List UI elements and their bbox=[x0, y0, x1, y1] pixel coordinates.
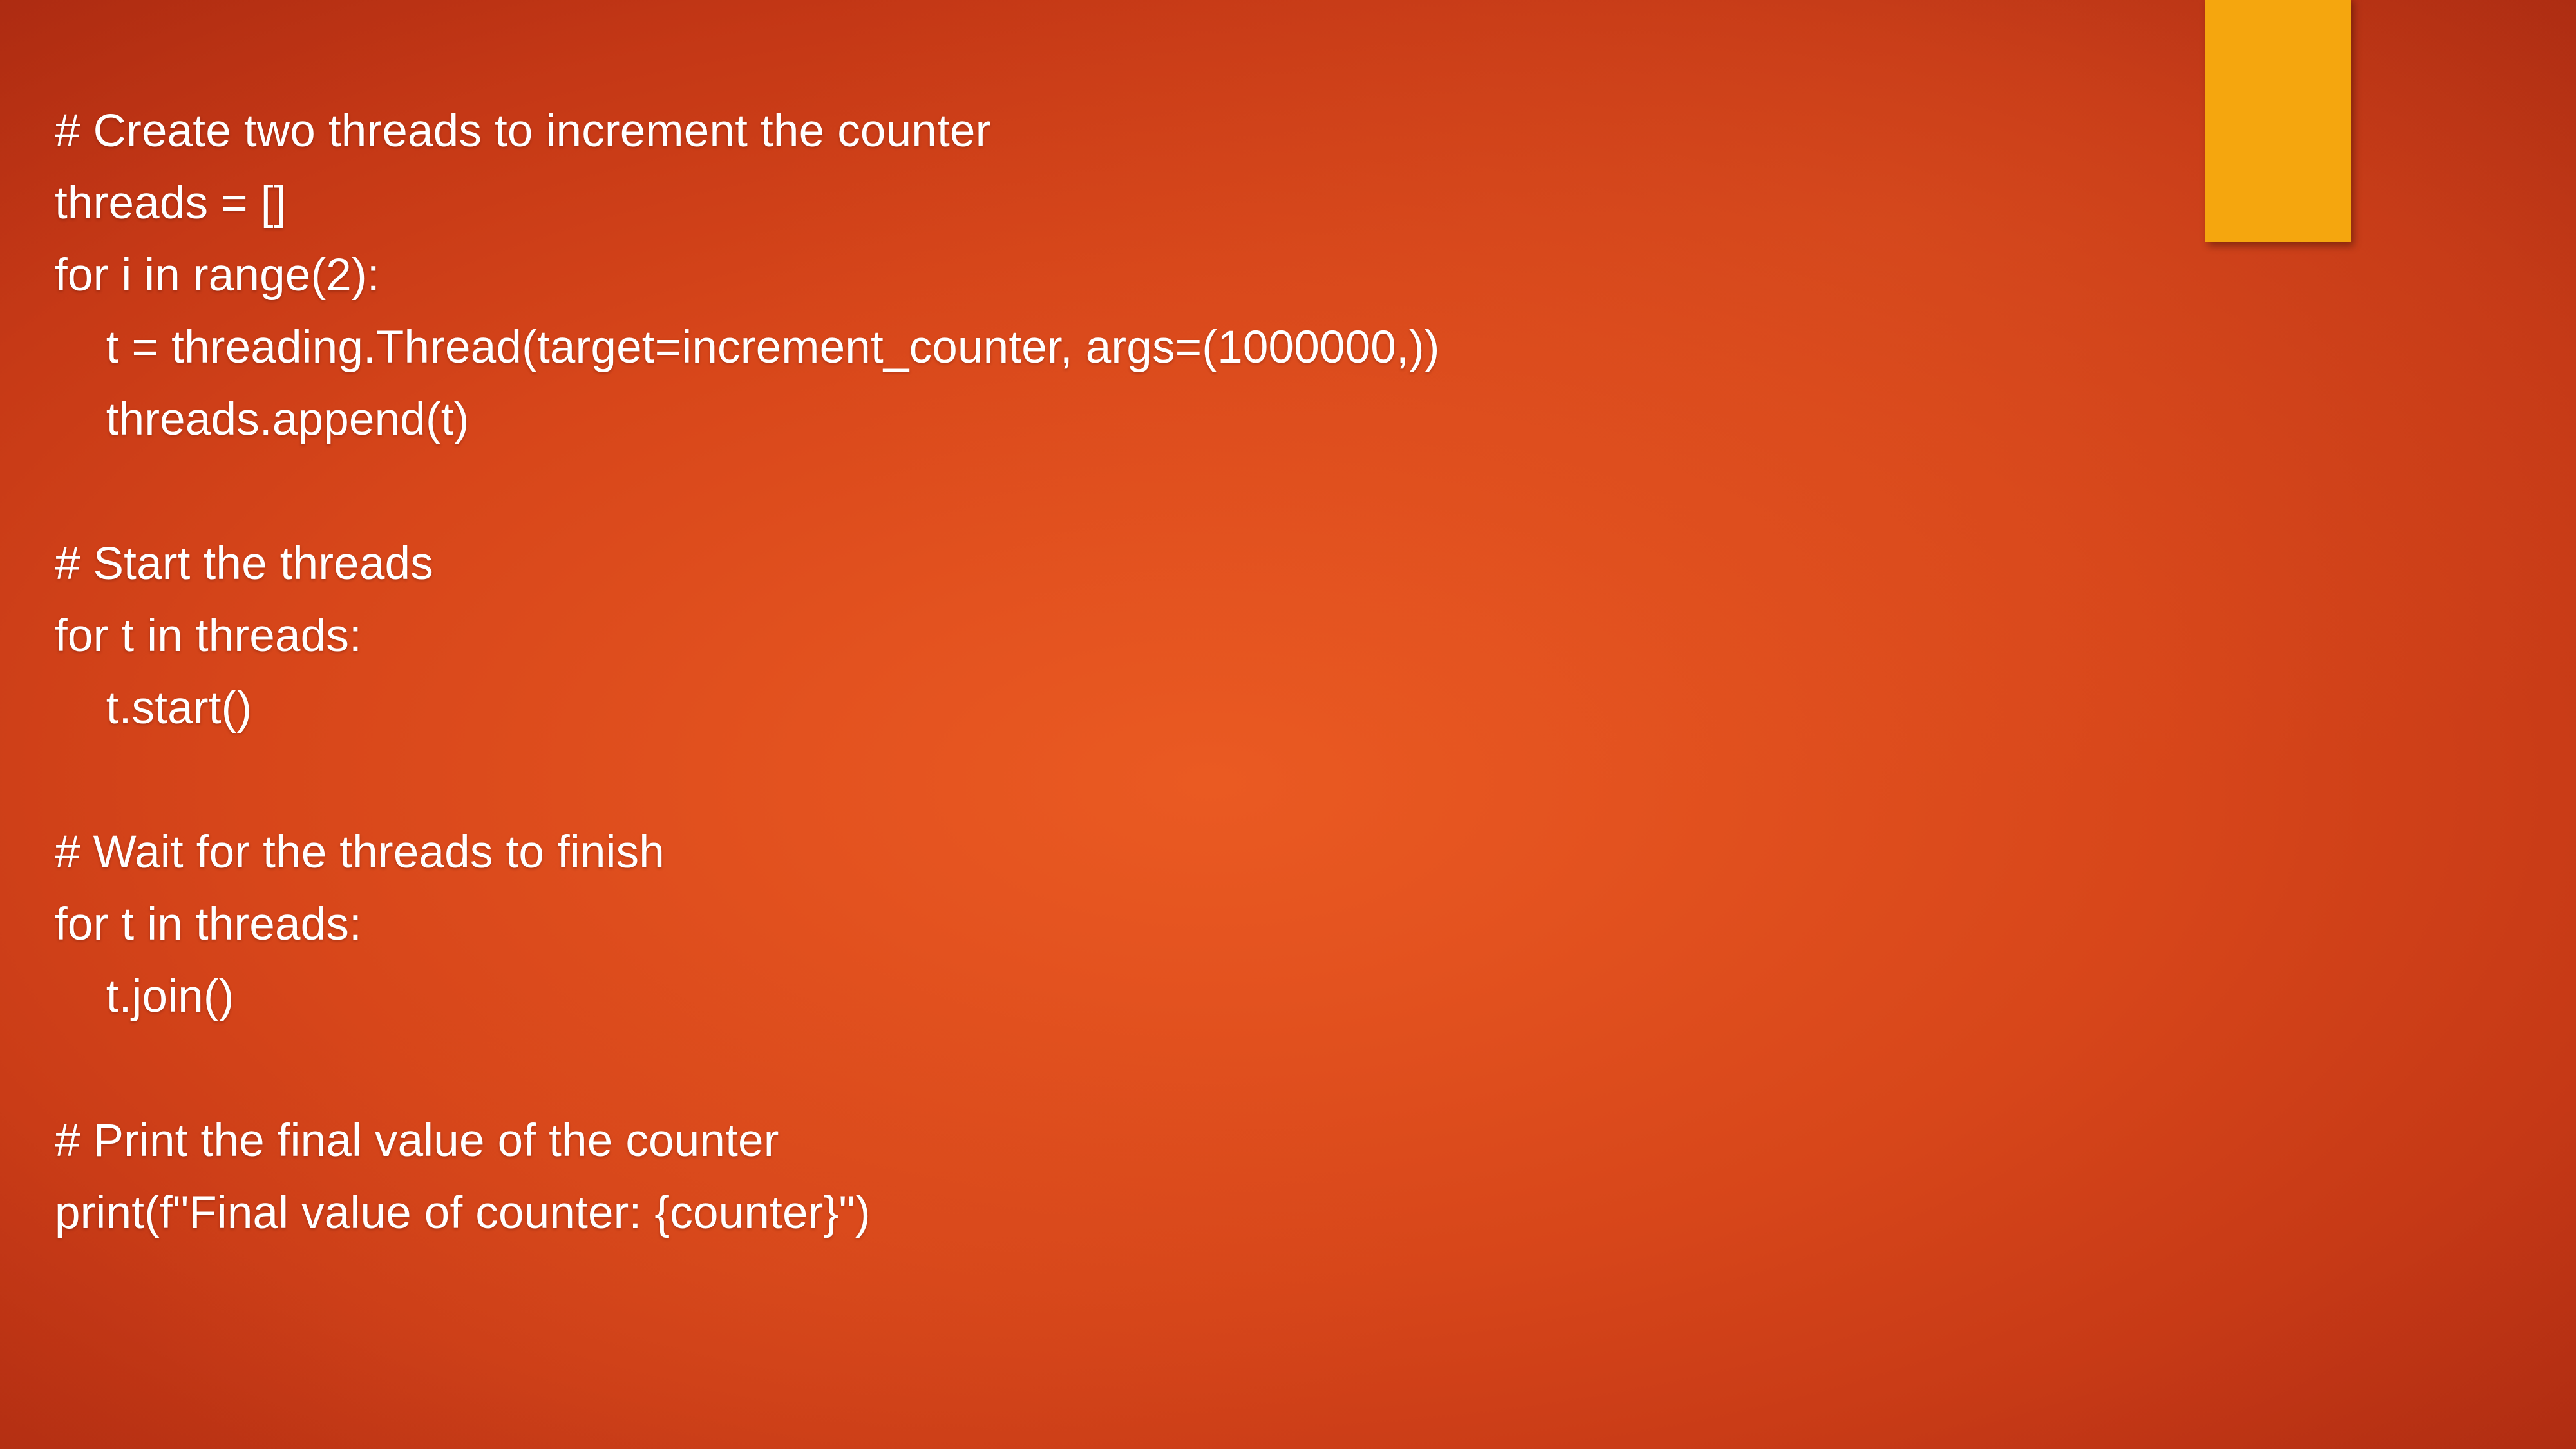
code-line: # Print the final value of the counter bbox=[55, 1105, 2438, 1177]
code-content-block: # Create two threads to increment the co… bbox=[55, 95, 2438, 1249]
code-line: for t in threads: bbox=[55, 600, 2438, 672]
code-line-blank bbox=[55, 1033, 2438, 1105]
code-line: # Wait for the threads to finish bbox=[55, 817, 2438, 889]
code-line: t.start() bbox=[55, 672, 2438, 744]
code-line: threads = [] bbox=[55, 167, 2438, 240]
code-line: # Start the threads bbox=[55, 528, 2438, 600]
code-line: # Create two threads to increment the co… bbox=[55, 95, 2438, 167]
code-line-blank bbox=[55, 456, 2438, 528]
code-line: for i in range(2): bbox=[55, 240, 2438, 312]
code-line: threads.append(t) bbox=[55, 384, 2438, 456]
code-line: t = threading.Thread(target=increment_co… bbox=[55, 312, 2438, 384]
code-line-blank bbox=[55, 744, 2438, 817]
code-line: print(f"Final value of counter: {counter… bbox=[55, 1177, 2438, 1249]
code-line: for t in threads: bbox=[55, 889, 2438, 961]
code-line: t.join() bbox=[55, 961, 2438, 1033]
presentation-slide: # Create two threads to increment the co… bbox=[0, 0, 2576, 1449]
